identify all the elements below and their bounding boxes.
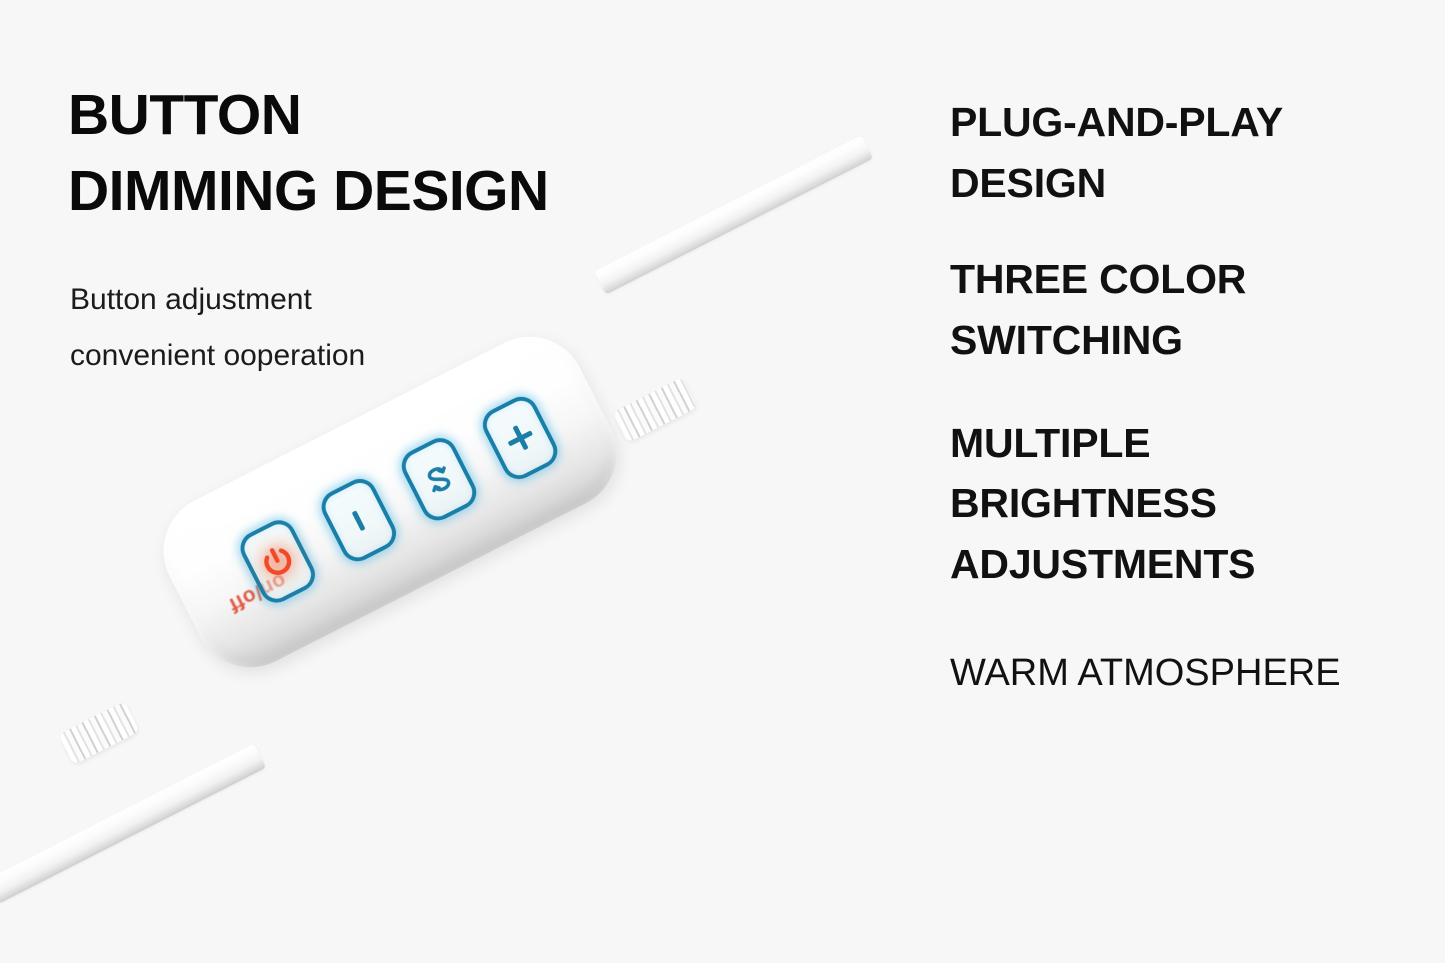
strain-relief-collar-upper (613, 377, 698, 443)
feature-list: PLUG-AND-PLAY DESIGN THREE COLOR SWITCHI… (950, 92, 1420, 701)
power-cable-lower (0, 743, 266, 903)
page-title: BUTTON DIMMING DESIGN (68, 78, 828, 230)
page-subtitle: Button adjustment convenient ooperation (70, 272, 630, 383)
brightness-up-button[interactable] (477, 391, 563, 485)
feature-item-three-color-switching: THREE COLOR SWITCHING (950, 249, 1420, 370)
product-feature-poster: on/off (0, 0, 1445, 963)
swap-arrows-icon (418, 458, 461, 501)
plus-icon (503, 420, 538, 455)
feature-item-multiple-brightness-adjustments: MULTIPLE BRIGHTNESS ADJUSTMENTS (950, 413, 1420, 595)
button-row (230, 382, 568, 617)
color-switch-button[interactable] (396, 432, 482, 526)
feature-item-warm-atmosphere: WARM ATMOSPHERE (950, 645, 1420, 701)
brightness-down-button[interactable] (315, 473, 401, 567)
power-icon (255, 539, 301, 585)
feature-item-plug-and-play: PLUG-AND-PLAY DESIGN (950, 92, 1420, 213)
minus-icon (352, 510, 366, 531)
strain-relief-collar-lower (58, 701, 139, 765)
